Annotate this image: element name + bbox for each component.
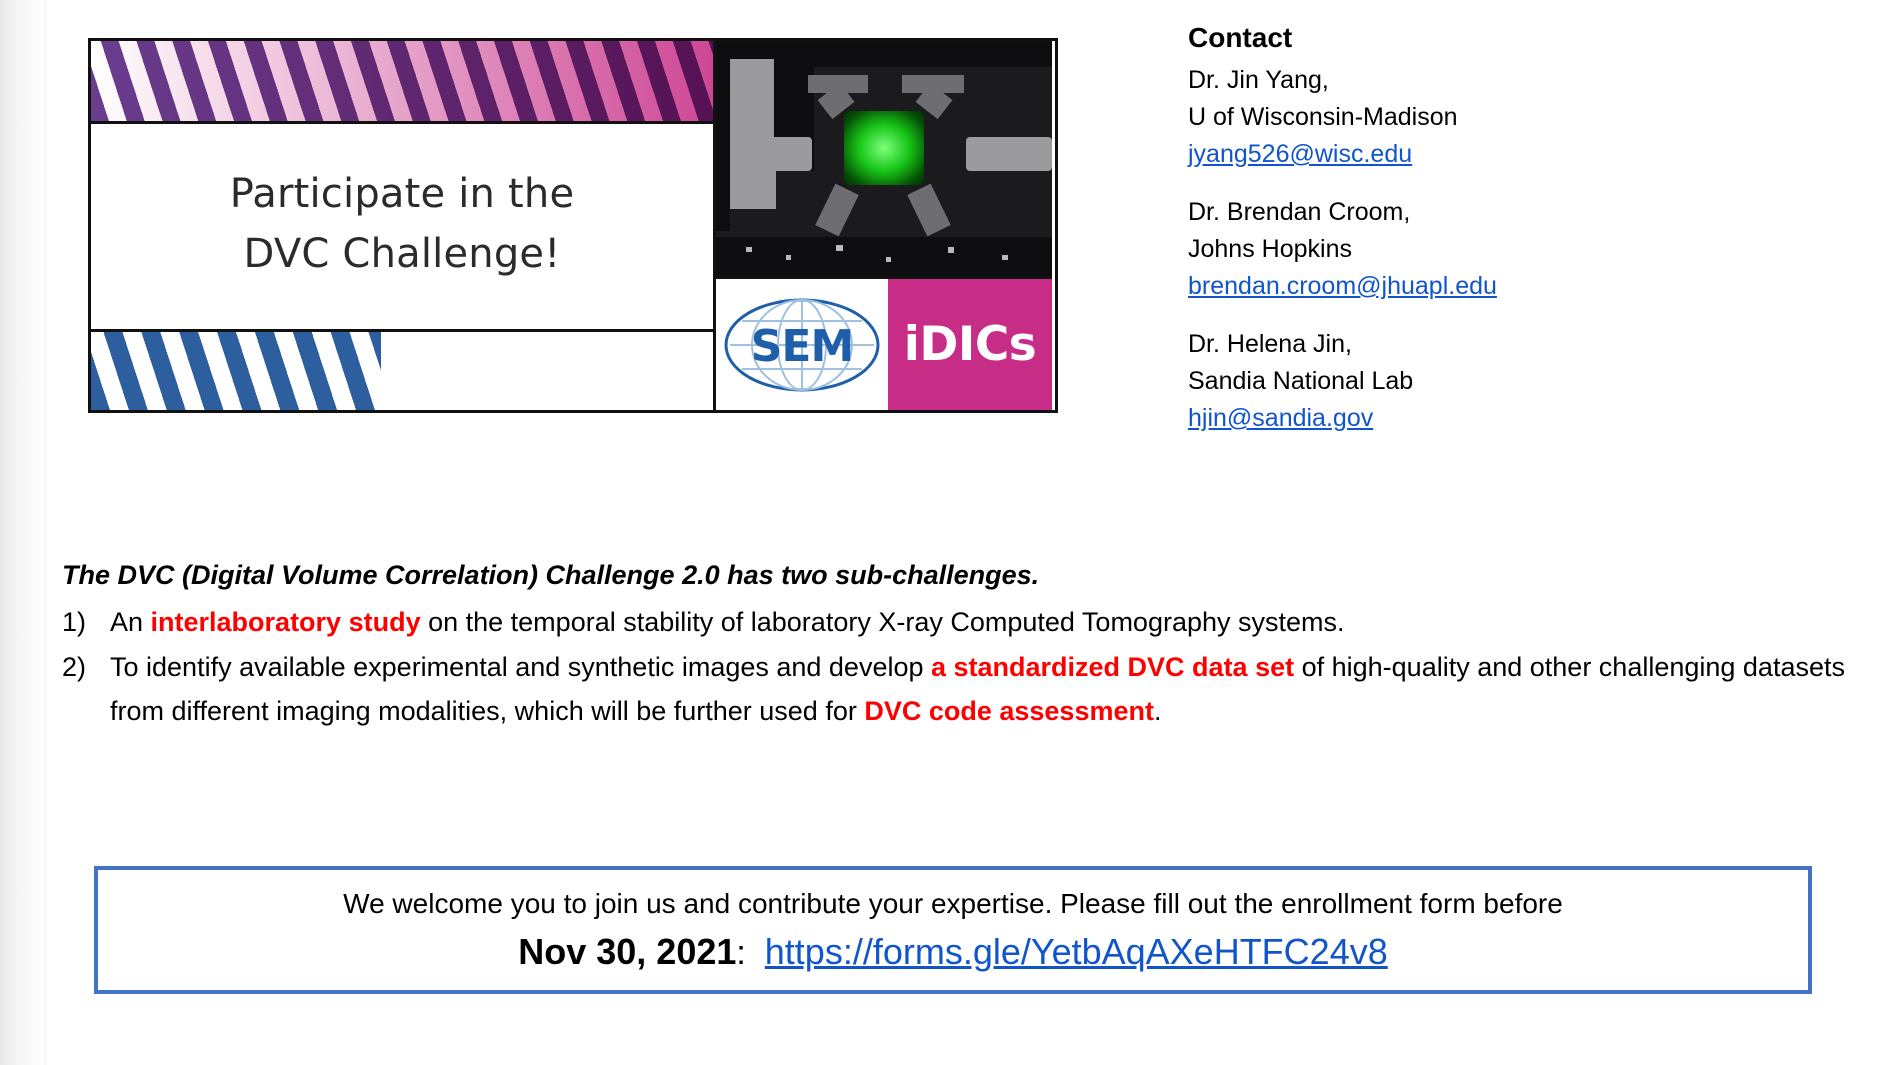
promo-banner: Participate in the DVC Challenge! — [88, 38, 1058, 413]
contact-section: Contact Dr. Jin Yang, U of Wisconsin-Mad… — [1188, 20, 1888, 458]
enrollment-invite-text: We welcome you to join us and contribute… — [343, 886, 1563, 921]
contact-person: Dr. Jin Yang, U of Wisconsin-Madison jya… — [1188, 62, 1888, 173]
organization-logos: SEM iDICs — [716, 279, 1052, 410]
contact-name: Dr. Helena Jin, — [1188, 326, 1888, 363]
contact-heading: Contact — [1188, 20, 1888, 55]
page-edge-divider — [45, 0, 46, 1065]
contact-name: Dr. Brendan Croom, — [1188, 194, 1888, 231]
list-item-marker: 1) — [62, 601, 106, 645]
banner-headline-line1: Participate in the — [230, 164, 575, 224]
list-item: 1) An interlaboratory study on the tempo… — [62, 601, 1862, 645]
decorative-stripes-bottom — [91, 332, 713, 410]
banner-title-panel: Participate in the DVC Challenge! — [91, 41, 716, 410]
challenge-lead-text: The DVC (Digital Volume Correlation) Cha… — [62, 558, 1862, 593]
contact-affiliation: Johns Hopkins — [1188, 231, 1888, 268]
lab-equipment-photo — [716, 41, 1052, 279]
idics-logo: iDICs — [888, 279, 1052, 410]
enrollment-form-link[interactable]: https://forms.gle/YetbAqAXeHTFC24v8 — [765, 931, 1388, 972]
contact-person: Dr. Brendan Croom, Johns Hopkins brendan… — [1188, 194, 1888, 305]
emphasis-text: DVC code assessment — [864, 696, 1154, 726]
list-item-marker: 2) — [62, 646, 106, 690]
emphasis-text: interlaboratory study — [151, 607, 421, 637]
contact-affiliation: U of Wisconsin-Madison — [1188, 99, 1888, 136]
plain-text: . — [1154, 696, 1162, 726]
sem-logo: SEM — [716, 279, 888, 410]
sem-globe-icon: SEM — [722, 293, 882, 397]
enrollment-callout: We welcome you to join us and contribute… — [94, 866, 1812, 994]
contact-email-link[interactable]: hjin@sandia.gov — [1188, 400, 1373, 437]
enrollment-deadline: Nov 30, 2021 — [518, 931, 736, 972]
enrollment-separator: : — [736, 934, 745, 972]
sub-challenge-list: 1) An interlaboratory study on the tempo… — [62, 601, 1862, 733]
list-item: 2) To identify available experimental an… — [62, 646, 1862, 733]
banner-media-panel: SEM iDICs — [716, 41, 1052, 410]
idics-logo-text: iDICs — [904, 317, 1037, 372]
emphasis-text: a standardized DVC data set — [931, 652, 1294, 682]
contact-email-link[interactable]: jyang526@wisc.edu — [1188, 136, 1412, 173]
contact-email-link[interactable]: brendan.croom@jhuapl.edu — [1188, 268, 1497, 305]
list-item-text: To identify available experimental and s… — [110, 652, 1845, 726]
list-item-text: An interlaboratory study on the temporal… — [110, 607, 1345, 637]
plain-text: An — [110, 607, 151, 637]
svg-text:SEM: SEM — [751, 321, 854, 372]
enrollment-deadline-row: Nov 30, 2021: https://forms.gle/YetbAqAX… — [518, 929, 1387, 975]
plain-text: on the temporal stability of laboratory … — [421, 607, 1345, 637]
challenge-description: The DVC (Digital Volume Correlation) Cha… — [62, 558, 1862, 734]
contact-affiliation: Sandia National Lab — [1188, 363, 1888, 400]
plain-text: To identify available experimental and s… — [110, 652, 931, 682]
contact-person: Dr. Helena Jin, Sandia National Lab hjin… — [1188, 326, 1888, 437]
banner-headline: Participate in the DVC Challenge! — [91, 124, 713, 332]
stripe-blue-block — [91, 332, 381, 410]
decorative-stripes-top — [91, 41, 713, 124]
contact-name: Dr. Jin Yang, — [1188, 62, 1888, 99]
page-left-edge-shading — [0, 0, 46, 1065]
stripe-gradient-overlay — [91, 41, 713, 121]
banner-headline-line2: DVC Challenge! — [244, 224, 561, 284]
